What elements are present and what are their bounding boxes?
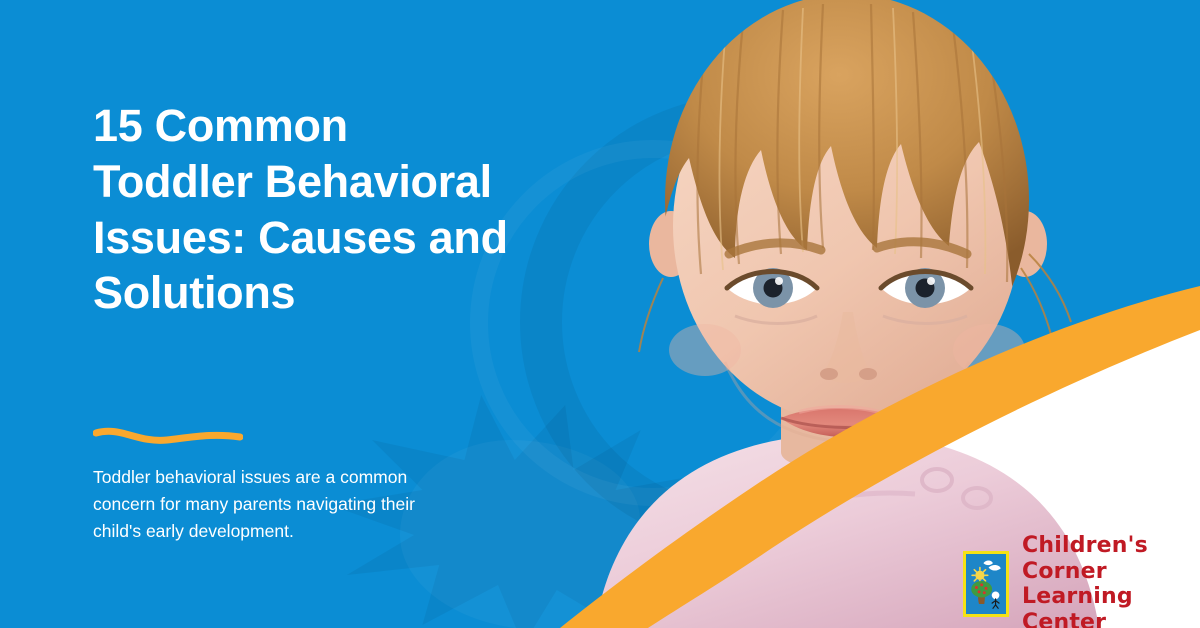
logo-text: Children's Corner Learning Center — [1022, 533, 1200, 628]
logo[interactable]: Children's Corner Learning Center — [963, 533, 1200, 628]
page-subtitle: Toddler behavioral issues are a common c… — [93, 464, 443, 545]
page-title: 15 Common Toddler Behavioral Issues: Cau… — [93, 98, 513, 321]
banner-canvas: 15 Common Toddler Behavioral Issues: Cau… — [0, 0, 1200, 628]
wavy-underline — [93, 424, 243, 446]
logo-mark-icon — [963, 551, 1009, 617]
